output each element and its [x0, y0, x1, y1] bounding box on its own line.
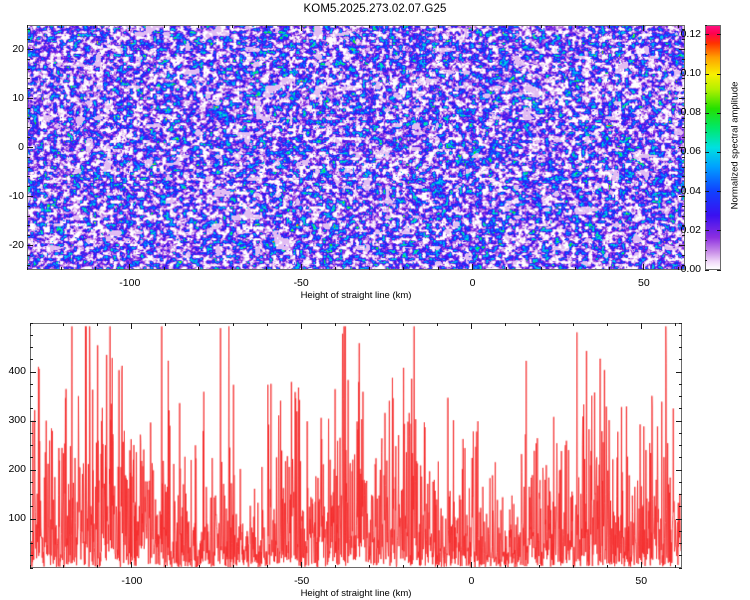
spectrogram-xtick-major-top: [301, 25, 302, 31]
snr-ytick-label: 100: [0, 512, 26, 524]
snr-ytick-minor-right: [679, 555, 682, 556]
spectrogram-ytick-minor: [27, 216, 30, 217]
spectrogram-xtick-minor: [506, 267, 507, 270]
snr-xtick-minor: [97, 565, 98, 568]
spectrogram-ytick-minor: [27, 78, 30, 79]
snr-ytick-minor-right: [679, 384, 682, 385]
snr-trace-line: [31, 324, 681, 567]
snr-ytick-minor: [30, 408, 33, 409]
spectrogram-ytick-label: 10: [0, 92, 24, 104]
spectrogram-ytick-minor: [27, 69, 30, 70]
snr-ytick-minor-right: [679, 396, 682, 397]
snr-ytick-minor: [30, 335, 33, 336]
spectrogram-x-axis-title: Height of straight line (km): [266, 290, 446, 301]
snr-ytick-minor-right: [679, 408, 682, 409]
snr-ytick-minor: [30, 555, 33, 556]
spectrogram-ytick-major: [27, 98, 33, 99]
spectrogram-xtick-minor: [198, 267, 199, 270]
snr-ytick-minor: [30, 482, 33, 483]
spectrogram-xtick-minor-top: [541, 25, 542, 28]
spectrogram-ytick-minor-right: [682, 176, 685, 177]
colorbar-tick-minor: [705, 162, 707, 163]
snr-ytick-minor: [30, 359, 33, 360]
spectrogram-ytick-major: [27, 245, 33, 246]
snr-ytick-minor-right: [679, 359, 682, 360]
colorbar-tick: [705, 191, 709, 192]
colorbar-tick-minor: [705, 211, 707, 212]
colorbar-tick-right: [717, 152, 721, 153]
spectrogram-ytick-minor-right: [682, 216, 685, 217]
spectrogram-ytick-label: -20: [0, 239, 24, 251]
snr-ytick-minor: [30, 433, 33, 434]
snr-ytick-minor: [30, 494, 33, 495]
spectrogram-ytick-major: [27, 49, 33, 50]
snr-xtick-major: [301, 562, 302, 568]
spectrogram-xtick-major-top: [643, 25, 644, 31]
snr-xtick-minor: [403, 565, 404, 568]
colorbar-tick: [705, 230, 709, 231]
snr-ytick-major: [30, 470, 36, 471]
spectrogram-xtick-minor-top: [198, 25, 199, 28]
spectrogram-ytick-minor: [27, 59, 30, 60]
colorbar-tick-minor: [705, 132, 707, 133]
snr-panel[interactable]: [30, 323, 682, 568]
spectrogram-xtick-major: [643, 264, 644, 270]
spectrogram-image: [28, 26, 684, 269]
colorbar-tick-minor: [705, 103, 707, 104]
snr-xtick-major-top: [641, 323, 642, 329]
colorbar-tick-minor: [705, 201, 707, 202]
spectrogram-xtick-label: 0: [448, 277, 498, 289]
snr-ytick-minor-right: [679, 323, 682, 324]
snr-xtick-major: [471, 562, 472, 568]
snr-xtick-minor: [165, 565, 166, 568]
colorbar-gradient: [706, 26, 720, 269]
snr-xtick-minor: [369, 565, 370, 568]
snr-ytick-major: [30, 421, 36, 422]
spectrogram-ytick-minor: [27, 167, 30, 168]
colorbar-tick-label: 0.00: [661, 263, 701, 275]
spectrogram-xtick-major-top: [129, 25, 130, 31]
spectrogram-ytick-minor: [27, 108, 30, 109]
spectrogram-xtick-minor: [438, 267, 439, 270]
spectrogram-xtick-minor-top: [506, 25, 507, 28]
snr-ytick-minor: [30, 531, 33, 532]
snr-ytick-minor: [30, 445, 33, 446]
spectrogram-ytick-major: [27, 147, 33, 148]
colorbar-tick-right: [717, 230, 721, 231]
spectrogram-ytick-minor-right: [682, 88, 685, 89]
spectrogram-xtick-minor-top: [575, 25, 576, 28]
spectrogram-xtick-minor: [61, 267, 62, 270]
page-title: KOM5.2025.273.02.07.G25: [0, 3, 750, 15]
spectrogram-ytick-label: 0: [0, 141, 24, 153]
snr-xtick-minor-top: [403, 323, 404, 326]
spectrogram-xtick-minor: [575, 267, 576, 270]
colorbar-tick-minor: [705, 221, 707, 222]
spectrogram-xtick-major: [129, 264, 130, 270]
colorbar-tick-label: 0.02: [661, 224, 701, 236]
colorbar-tick-minor: [705, 181, 707, 182]
spectrogram-ytick-label: 20: [0, 43, 24, 55]
spectrogram-xtick-minor-top: [95, 25, 96, 28]
spectrogram-ytick-minor-right: [682, 127, 685, 128]
snr-xtick-minor-top: [539, 323, 540, 326]
snr-xtick-minor-top: [63, 323, 64, 326]
colorbar-tick-label: 0.06: [661, 145, 701, 157]
spectrogram-xtick-minor: [335, 267, 336, 270]
colorbar-tick-right: [717, 191, 721, 192]
snr-xtick-label: -100: [107, 575, 157, 587]
spectrogram-ytick-major-right: [679, 245, 685, 246]
snr-xtick-major: [641, 562, 642, 568]
snr-ytick-minor: [30, 543, 33, 544]
snr-xtick-label: -50: [277, 575, 327, 587]
snr-xtick-minor: [607, 565, 608, 568]
snr-ytick-minor: [30, 457, 33, 458]
spectrogram-xtick-label: 50: [619, 277, 669, 289]
spectrogram-xtick-minor-top: [266, 25, 267, 28]
colorbar-tick-minor: [705, 93, 707, 94]
spectrogram-ytick-minor: [27, 88, 30, 89]
snr-ytick-major-right: [676, 421, 682, 422]
snr-ytick-major-right: [676, 519, 682, 520]
spectrogram-ytick-minor-right: [682, 137, 685, 138]
snr-xtick-minor-top: [267, 323, 268, 326]
colorbar-title: Normalized spectral amplitude: [730, 45, 741, 245]
snr-xtick-minor: [63, 565, 64, 568]
spectrogram-ytick-major: [27, 196, 33, 197]
colorbar[interactable]: [705, 25, 721, 270]
snr-ytick-major: [30, 519, 36, 520]
colorbar-tick-right: [717, 74, 721, 75]
spectrogram-ytick-label: -10: [0, 190, 24, 202]
colorbar-tick: [705, 152, 709, 153]
spectrogram-xtick-label: -100: [105, 277, 155, 289]
snr-xtick-minor-top: [199, 323, 200, 326]
snr-ytick-minor-right: [679, 494, 682, 495]
snr-xtick-minor-top: [97, 323, 98, 326]
snr-ytick-minor: [30, 384, 33, 385]
snr-xtick-minor-top: [505, 323, 506, 326]
snr-xtick-minor: [30, 565, 31, 568]
spectrogram-ytick-minor-right: [682, 167, 685, 168]
spectrogram-xtick-minor: [609, 267, 610, 270]
colorbar-tick-label: 0.12: [661, 28, 701, 40]
snr-ytick-minor-right: [679, 457, 682, 458]
spectrogram-ytick-minor-right: [682, 59, 685, 60]
colorbar-tick-minor: [705, 64, 707, 65]
colorbar-tick-label: 0.04: [661, 185, 701, 197]
colorbar-tick: [705, 74, 709, 75]
spectrogram-xtick-minor: [266, 267, 267, 270]
snr-ytick-minor-right: [679, 433, 682, 434]
spectrogram-xtick-minor: [232, 267, 233, 270]
spectrogram-xtick-label: -50: [276, 277, 326, 289]
spectrogram-ytick-minor: [27, 176, 30, 177]
spectrogram-xtick-minor: [95, 267, 96, 270]
colorbar-tick-minor: [705, 172, 707, 173]
snr-xtick-minor: [199, 565, 200, 568]
colorbar-tick: [705, 34, 709, 35]
snr-xtick-minor-top: [607, 323, 608, 326]
colorbar-tick: [705, 270, 709, 271]
spectrogram-xtick-minor-top: [335, 25, 336, 28]
spectrogram-panel[interactable]: [27, 25, 685, 270]
spectrogram-ytick-minor: [27, 157, 30, 158]
colorbar-tick-label: 0.10: [661, 67, 701, 79]
colorbar-tick-minor: [705, 260, 707, 261]
snr-xtick-minor: [335, 565, 336, 568]
snr-xtick-minor-top: [675, 323, 676, 326]
spectrogram-ytick-major-right: [679, 49, 685, 50]
spectrogram-xtick-major: [472, 264, 473, 270]
snr-ytick-major-right: [676, 372, 682, 373]
figure-canvas: KOM5.2025.273.02.07.G25 Frequency (Hz) H…: [0, 0, 750, 600]
snr-xtick-minor: [573, 565, 574, 568]
spectrogram-xtick-minor-top: [27, 25, 28, 28]
colorbar-tick: [705, 113, 709, 114]
spectrogram-ytick-minor: [27, 255, 30, 256]
colorbar-tick-right: [717, 270, 721, 271]
snr-xtick-minor: [437, 565, 438, 568]
spectrogram-ytick-minor: [27, 118, 30, 119]
spectrogram-ytick-minor: [27, 206, 30, 207]
snr-ytick-minor: [30, 347, 33, 348]
colorbar-tick-minor: [705, 123, 707, 124]
snr-xtick-major-top: [471, 323, 472, 329]
snr-xtick-major: [131, 562, 132, 568]
spectrogram-ytick-minor: [27, 29, 30, 30]
spectrogram-xtick-minor-top: [164, 25, 165, 28]
snr-xtick-minor-top: [335, 323, 336, 326]
snr-xtick-minor-top: [165, 323, 166, 326]
snr-ytick-minor-right: [679, 531, 682, 532]
snr-xtick-minor: [505, 565, 506, 568]
spectrogram-xtick-minor-top: [369, 25, 370, 28]
spectrogram-xtick-minor: [164, 267, 165, 270]
snr-ytick-major-right: [676, 470, 682, 471]
spectrogram-ytick-minor: [27, 186, 30, 187]
spectrogram-xtick-minor-top: [438, 25, 439, 28]
snr-ytick-minor: [30, 396, 33, 397]
spectrogram-ytick-minor: [27, 137, 30, 138]
colorbar-tick-minor: [705, 25, 707, 26]
colorbar-tick-right: [717, 34, 721, 35]
snr-ytick-minor-right: [679, 445, 682, 446]
snr-xtick-label: 0: [446, 575, 496, 587]
spectrogram-xtick-minor: [369, 267, 370, 270]
spectrogram-xtick-major-top: [472, 25, 473, 31]
spectrogram-xtick-minor: [27, 267, 28, 270]
snr-xtick-minor-top: [573, 323, 574, 326]
snr-ytick-label: 400: [0, 365, 26, 377]
spectrogram-xtick-minor: [403, 267, 404, 270]
snr-ytick-minor: [30, 506, 33, 507]
spectrogram-ytick-minor: [27, 39, 30, 40]
colorbar-tick-minor: [705, 83, 707, 84]
colorbar-tick-minor: [705, 250, 707, 251]
snr-xtick-minor-top: [233, 323, 234, 326]
snr-xtick-minor-top: [369, 323, 370, 326]
spectrogram-xtick-major: [301, 264, 302, 270]
snr-ytick-minor-right: [679, 347, 682, 348]
snr-ytick-major: [30, 372, 36, 373]
snr-ytick-label: 300: [0, 414, 26, 426]
colorbar-tick-right: [717, 113, 721, 114]
colorbar-tick-label: 0.08: [661, 106, 701, 118]
colorbar-tick-minor: [705, 142, 707, 143]
snr-ytick-minor-right: [679, 506, 682, 507]
spectrogram-ytick-minor-right: [682, 206, 685, 207]
spectrogram-ytick-minor: [27, 235, 30, 236]
spectrogram-xtick-minor: [541, 267, 542, 270]
snr-ytick-minor-right: [679, 568, 682, 569]
spectrogram-ytick-minor: [27, 225, 30, 226]
snr-ytick-label: 200: [0, 463, 26, 475]
snr-xtick-label: 50: [616, 575, 666, 587]
colorbar-tick-minor: [705, 44, 707, 45]
spectrogram-ytick-minor-right: [682, 255, 685, 256]
spectrogram-xtick-minor-top: [609, 25, 610, 28]
snr-xtick-minor: [675, 565, 676, 568]
snr-ytick-minor-right: [679, 543, 682, 544]
spectrogram-ytick-minor: [27, 127, 30, 128]
snr-xtick-major-top: [301, 323, 302, 329]
snr-xtick-minor: [267, 565, 268, 568]
spectrogram-ytick-minor: [27, 265, 30, 266]
spectrogram-xtick-minor-top: [61, 25, 62, 28]
spectrogram-ytick-major-right: [679, 98, 685, 99]
colorbar-tick-minor: [705, 240, 707, 241]
snr-ytick-minor-right: [679, 482, 682, 483]
snr-xtick-major-top: [131, 323, 132, 329]
snr-xtick-minor: [539, 565, 540, 568]
snr-xtick-minor-top: [30, 323, 31, 326]
snr-x-axis-title: Height of straight line (km): [266, 588, 446, 599]
colorbar-tick-minor: [705, 54, 707, 55]
spectrogram-xtick-minor-top: [403, 25, 404, 28]
spectrogram-xtick-minor-top: [232, 25, 233, 28]
snr-xtick-minor: [233, 565, 234, 568]
snr-xtick-minor-top: [437, 323, 438, 326]
snr-ytick-minor-right: [679, 335, 682, 336]
